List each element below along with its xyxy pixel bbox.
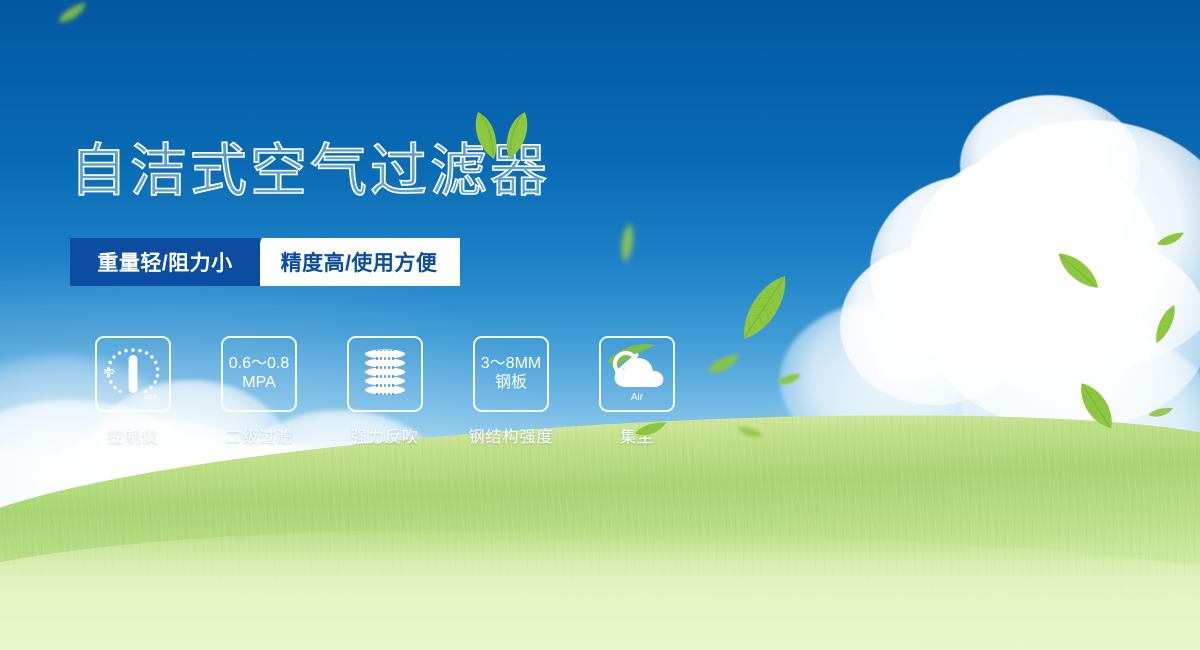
feature-label: 集尘 (620, 423, 654, 447)
grass-band (0, 560, 1200, 650)
feature-label: 强力反吹 (351, 423, 419, 447)
pressure-value: 0.6～0.8 MPA (229, 355, 290, 393)
steel-value: 3～8MM 钢板 (481, 355, 541, 393)
feature-item-control[interactable]: NO OFF 控制仪 (70, 336, 196, 447)
feature-item-steel[interactable]: 3～8MM 钢板 钢结构强度 (448, 336, 574, 447)
control-dial-icon: NO OFF (95, 336, 171, 412)
air-cloud-icon: Air (599, 336, 675, 412)
feature-item-dust[interactable]: Air 集尘 (574, 336, 700, 447)
tagline-band: 重量轻/阻力小 精度高/使用方便 (70, 238, 460, 286)
feature-label: 控制仪 (107, 423, 158, 447)
feature-list: NO OFF 控制仪 0.6～0.8 MPA 二级过滤 (70, 336, 700, 447)
feature-item-pressure[interactable]: 0.6～0.8 MPA 二级过滤 (196, 336, 322, 447)
coil-filter-icon (347, 336, 423, 412)
tagline-left: 重量轻/阻力小 (70, 238, 260, 286)
sprout-leaves-icon (468, 108, 534, 160)
tagline-right: 精度高/使用方便 (244, 238, 460, 286)
svg-text:OFF: OFF (144, 394, 157, 401)
feature-item-blowback[interactable]: 强力反吹 (322, 336, 448, 447)
feature-label: 二级过滤 (225, 423, 293, 447)
steel-plate-text-icon: 3～8MM 钢板 (473, 336, 549, 412)
air-cloud-label: Air (631, 392, 644, 403)
svg-text:NO: NO (104, 369, 115, 376)
pressure-text-icon: 0.6～0.8 MPA (221, 336, 297, 412)
feature-label: 钢结构强度 (468, 423, 553, 447)
product-banner: 自洁式空气过滤器 重量轻/阻力小 精度高/使用方便 (0, 0, 1200, 650)
